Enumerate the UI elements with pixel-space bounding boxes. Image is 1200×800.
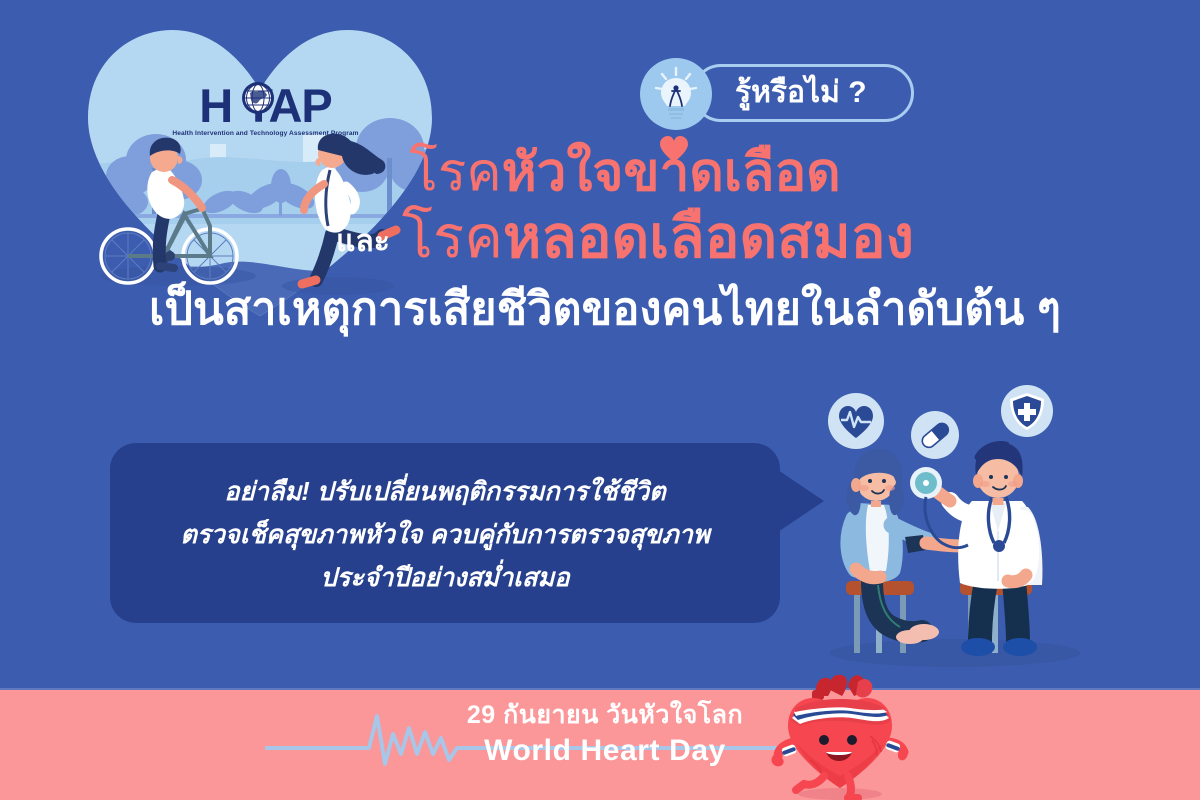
did-you-know-badge: รู้หรือไม่ ? — [640, 58, 915, 130]
headline-line-1: โรคหัวใจขาดเลือด — [60, 140, 1150, 206]
running-heart-mascot-icon — [768, 668, 913, 800]
banner-thai-date: 29 กันยายน วันหัวใจโลก — [440, 700, 770, 730]
heart-icon — [659, 135, 689, 163]
headline-line1-prefix: โรค — [409, 143, 501, 202]
advice-line-1: อย่าลืม! ปรับเปลี่ยนพฤติกรรมการใช้ชีวิต — [110, 471, 780, 514]
advice-speech-bubble: อย่าลืม! ปรับเปลี่ยนพฤติกรรมการใช้ชีวิต … — [110, 443, 780, 623]
advice-line-3: ประจำปีอย่างสม่ำเสมอ — [110, 557, 780, 600]
badge-bulb-circle — [640, 58, 712, 130]
headline-line2-main: หลอดเลือดสมอง — [503, 205, 914, 270]
lightbulb-icon — [640, 58, 712, 130]
hitap-wordmark-prefix: H — [199, 84, 232, 128]
headline-line2-lead: และ — [336, 225, 390, 258]
advice-text: อย่าลืม! ปรับเปลี่ยนพฤติกรรมการใช้ชีวิต … — [110, 471, 780, 600]
badge-label: รู้หรือไม่ ? — [735, 70, 905, 116]
advice-line-2: ตรวจเช็คสุขภาพหัวใจ ควบคู่กับการตรวจสุขภ… — [110, 514, 780, 557]
headline-block: โรคหัวใจขาดเลือด และโรคหลอดเลือดสมอง เป็… — [60, 140, 1150, 338]
globe-icon — [241, 81, 275, 115]
headline-line2-prefix: โรค — [402, 205, 503, 270]
headline-line-2: และโรคหลอดเลือดสมอง — [60, 202, 1150, 278]
headline-line-3: เป็นสาเหตุการเสียชีวิตของคนไทยในลำดับต้น… — [60, 280, 1150, 338]
banner-text-block: 29 กันยายน วันหัวใจโลก World Heart Day — [440, 700, 770, 769]
hitap-wordmark: H I TAP — [168, 78, 363, 128]
banner-english-title: World Heart Day — [440, 733, 770, 769]
poster-canvas: H I TAP Health Intervention and Technolo… — [0, 0, 1200, 800]
doctor-blood-pressure-check-illustration — [810, 385, 1100, 670]
